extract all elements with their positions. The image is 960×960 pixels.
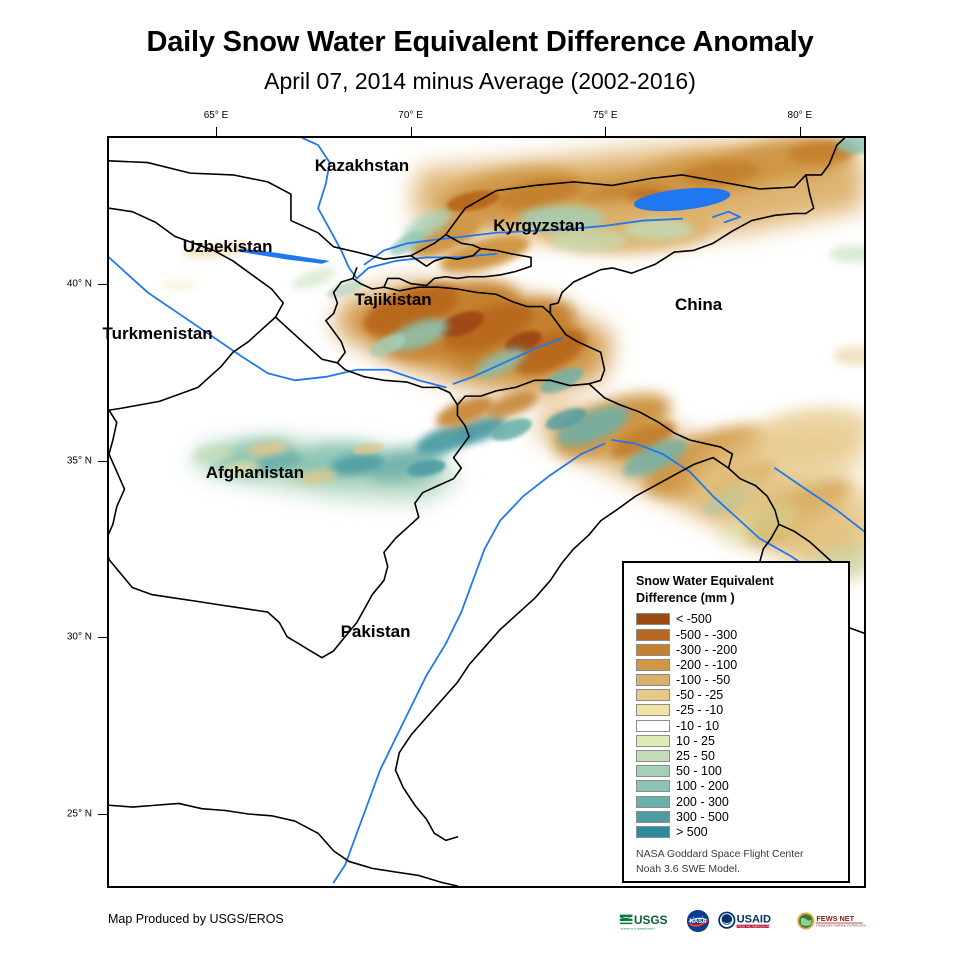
legend-swatch xyxy=(636,644,670,656)
legend-label: 300 - 500 xyxy=(676,810,729,824)
legend-row: -25 - -10 xyxy=(636,703,848,718)
svg-text:USGS: USGS xyxy=(634,913,668,927)
lon-tick-label: 80° E xyxy=(788,110,813,121)
svg-text:NASA: NASA xyxy=(689,919,707,925)
legend-title-line2: Difference (mm ) xyxy=(636,590,848,607)
legend-label: -200 - -100 xyxy=(676,658,737,672)
legend-swatch xyxy=(636,629,670,641)
lake-aral xyxy=(237,249,330,264)
legend-label: 50 - 100 xyxy=(676,764,722,778)
lon-tick xyxy=(605,127,606,136)
legend-row: 200 - 300 xyxy=(636,794,848,809)
lat-tick xyxy=(98,284,107,285)
legend-row: -100 - -50 xyxy=(636,673,848,688)
legend-swatch xyxy=(636,720,670,732)
legend-title-line1: Snow Water Equivalent xyxy=(636,573,848,590)
usgs-logo: USGS science for a changing world xyxy=(619,909,679,933)
lat-tick xyxy=(98,461,107,462)
legend-row: 100 - 200 xyxy=(636,779,848,794)
legend-swatch xyxy=(636,674,670,686)
border-line xyxy=(109,410,117,454)
river-line xyxy=(334,444,605,883)
legend-title: Snow Water Equivalent Difference (mm ) xyxy=(636,573,848,607)
lon-tick-label: 75° E xyxy=(593,110,618,121)
page-subtitle: April 07, 2014 minus Average (2002-2016) xyxy=(0,68,960,95)
legend-label: < -500 xyxy=(676,612,712,626)
svg-text:USAID: USAID xyxy=(737,914,771,926)
fewsnet-logo: FEWS NET FAMINE EARLY WARNING SYSTEMS NE… xyxy=(796,909,866,933)
legend-row: 25 - 50 xyxy=(636,748,848,763)
svg-text:FROM THE AMERICAN PEOPLE: FROM THE AMERICAN PEOPLE xyxy=(737,925,776,929)
page-title: Daily Snow Water Equivalent Difference A… xyxy=(0,26,960,59)
legend-swatch xyxy=(636,704,670,716)
legend-note-line1: NASA Goddard Space Flight Center xyxy=(636,847,848,862)
usaid-logo: USAID FROM THE AMERICAN PEOPLE xyxy=(717,909,789,933)
lon-tick-label: 65° E xyxy=(204,110,229,121)
legend-label: > 500 xyxy=(676,825,708,839)
legend-label: -25 - -10 xyxy=(676,703,723,717)
legend-row: -50 - -25 xyxy=(636,688,848,703)
legend-row: 300 - 500 xyxy=(636,809,848,824)
legend-label: -100 - -50 xyxy=(676,673,730,687)
legend-swatch xyxy=(636,750,670,762)
lon-tick xyxy=(800,127,801,136)
legend-row: < -500 xyxy=(636,612,848,627)
legend-swatch xyxy=(636,780,670,792)
legend-label: -50 - -25 xyxy=(676,688,723,702)
map-page: Daily Snow Water Equivalent Difference A… xyxy=(0,0,960,960)
legend-label: 200 - 300 xyxy=(676,795,729,809)
legend-swatch xyxy=(636,765,670,777)
legend-row: 50 - 100 xyxy=(636,764,848,779)
lon-tick xyxy=(216,127,217,136)
legend-note-line2: Noah 3.6 SWE Model. xyxy=(636,862,848,877)
legend-row: -300 - -200 xyxy=(636,642,848,657)
nasa-logo: NASA xyxy=(686,909,710,933)
border-line xyxy=(395,535,589,841)
agency-logos: USGS science for a changing world NASA U… xyxy=(619,908,866,934)
legend-row: -200 - -100 xyxy=(636,657,848,672)
lat-tick xyxy=(98,814,107,815)
legend-label: 25 - 50 xyxy=(676,749,715,763)
legend-note: NASA Goddard Space Flight Center Noah 3.… xyxy=(636,847,848,877)
legend-swatch xyxy=(636,811,670,823)
legend-label: -300 - -200 xyxy=(676,643,737,657)
legend-label: -500 - -300 xyxy=(676,628,737,642)
legend-row: > 500 xyxy=(636,824,848,839)
legend-row: -10 - 10 xyxy=(636,718,848,733)
legend-label: 100 - 200 xyxy=(676,779,729,793)
lat-tick-label: 25° N xyxy=(67,808,92,819)
legend-swatch xyxy=(636,735,670,747)
legend-class-list: < -500-500 - -300-300 - -200-200 - -100-… xyxy=(636,612,848,840)
coastline xyxy=(109,803,457,886)
svg-text:FAMINE EARLY WARNING SYSTEMS N: FAMINE EARLY WARNING SYSTEMS NETWORK xyxy=(816,925,866,928)
lat-tick-label: 40° N xyxy=(67,279,92,290)
legend-swatch xyxy=(636,613,670,625)
legend-label: 10 - 25 xyxy=(676,734,715,748)
legend-swatch xyxy=(636,689,670,701)
legend-row: -500 - -300 xyxy=(636,627,848,642)
lat-tick-label: 30° N xyxy=(67,632,92,643)
legend-swatch xyxy=(636,796,670,808)
map-credit: Map Produced by USGS/EROS xyxy=(108,912,284,926)
map-legend: Snow Water Equivalent Difference (mm ) <… xyxy=(622,561,850,883)
lon-tick-label: 70° E xyxy=(398,110,423,121)
svg-text:FEWS NET: FEWS NET xyxy=(816,914,854,923)
svg-text:science for a changing world: science for a changing world xyxy=(621,927,655,931)
legend-swatch xyxy=(636,826,670,838)
lon-tick xyxy=(411,127,412,136)
legend-label: -10 - 10 xyxy=(676,719,719,733)
legend-swatch xyxy=(636,659,670,671)
legend-row: 10 - 25 xyxy=(636,733,848,748)
lat-tick xyxy=(98,637,107,638)
lat-tick-label: 35° N xyxy=(67,455,92,466)
border-line xyxy=(109,208,283,410)
swe-anomaly-raster xyxy=(159,138,864,596)
